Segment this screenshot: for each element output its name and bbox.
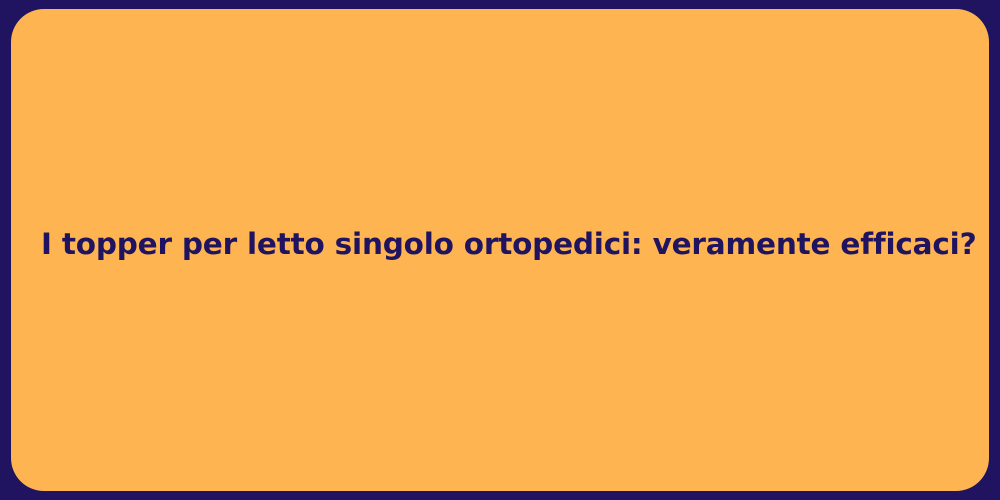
banner-root: I topper per letto singolo ortopedici: v… [0,0,1000,500]
page-title: I topper per letto singolo ortopedici: v… [41,225,977,265]
banner-card: I topper per letto singolo ortopedici: v… [11,9,989,491]
headline-container: I topper per letto singolo ortopedici: v… [11,225,989,265]
